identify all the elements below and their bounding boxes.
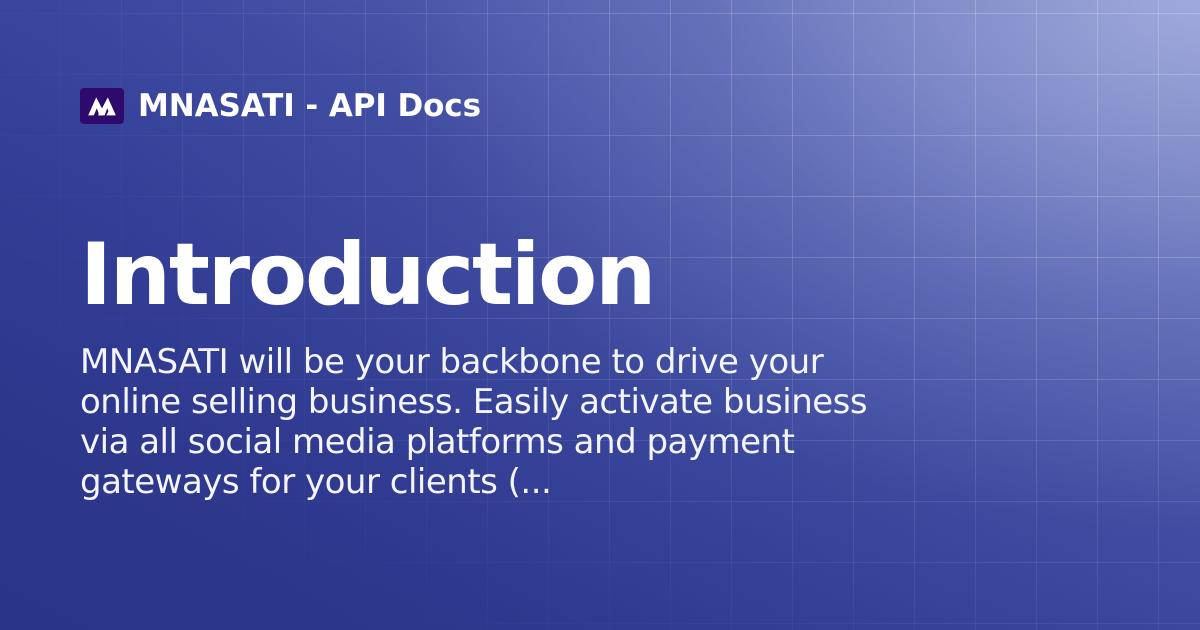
card-content: MNASATI - API Docs Introduction MNASATI … bbox=[0, 0, 1200, 630]
brand-title: MNASATI - API Docs bbox=[138, 91, 481, 122]
page-title: Introduction bbox=[80, 232, 1120, 320]
brand-header: MNASATI - API Docs bbox=[80, 84, 1120, 128]
mnasati-mountain-logo-icon bbox=[80, 88, 124, 124]
og-preview-card: MNASATI - API Docs Introduction MNASATI … bbox=[0, 0, 1200, 630]
page-description: MNASATI will be your backbone to drive y… bbox=[80, 342, 880, 502]
